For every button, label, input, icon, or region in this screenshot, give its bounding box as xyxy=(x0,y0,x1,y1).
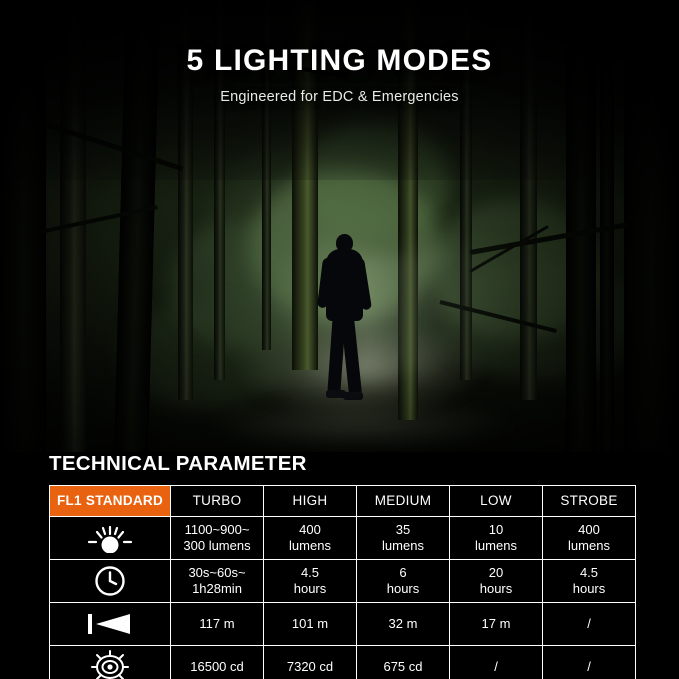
cell-intensity-low: / xyxy=(450,646,543,679)
cell-distance-high: 101 m xyxy=(264,603,357,646)
brightness-sun-icon xyxy=(50,517,171,560)
hero-headline: 5 LIGHTING MODES xyxy=(0,44,679,78)
hero-photo: 5 LIGHTING MODES Engineered for EDC & Em… xyxy=(0,0,679,452)
runtime-clock-icon xyxy=(50,560,171,603)
spec-table-wrapper: FL1 STANDARD TURBO HIGH MEDIUM LOW STROB… xyxy=(49,485,630,679)
cell-lumens-turbo: 1100~900~ 300 lumens xyxy=(171,517,264,560)
section-title: TECHNICAL PARAMETER xyxy=(49,452,307,476)
column-header-strobe: STROBE xyxy=(543,486,636,517)
cell-lumens-strobe: 400 lumens xyxy=(543,517,636,560)
cell-intensity-strobe: / xyxy=(543,646,636,679)
spec-table: FL1 STANDARD TURBO HIGH MEDIUM LOW STROB… xyxy=(49,485,636,679)
fl1-standard-header: FL1 STANDARD xyxy=(50,486,171,517)
table-header-row: FL1 STANDARD TURBO HIGH MEDIUM LOW STROB… xyxy=(50,486,636,517)
column-header-high: HIGH xyxy=(264,486,357,517)
table-row-distance: 117 m 101 m 32 m 17 m / xyxy=(50,603,636,646)
cell-distance-medium: 32 m xyxy=(357,603,450,646)
beam-distance-icon xyxy=(50,603,171,646)
cell-distance-turbo: 117 m xyxy=(171,603,264,646)
cell-distance-low: 17 m xyxy=(450,603,543,646)
cell-intensity-high: 7320 cd xyxy=(264,646,357,679)
table-row-intensity: 16500 cd 7320 cd 675 cd / / xyxy=(50,646,636,679)
table-row-lumens: 1100~900~ 300 lumens 400 lumens 35 lumen… xyxy=(50,517,636,560)
hero-subheadline: Engineered for EDC & Emergencies xyxy=(0,89,679,105)
cell-runtime-high: 4.5 hours xyxy=(264,560,357,603)
table-row-runtime: 30s~60s~ 1h28min 4.5 hours 6 hours 20 ho… xyxy=(50,560,636,603)
product-infographic: 5 LIGHTING MODES Engineered for EDC & Em… xyxy=(0,0,679,679)
column-header-medium: MEDIUM xyxy=(357,486,450,517)
cell-lumens-medium: 35 lumens xyxy=(357,517,450,560)
cell-runtime-medium: 6 hours xyxy=(357,560,450,603)
cell-runtime-strobe: 4.5 hours xyxy=(543,560,636,603)
column-header-low: LOW xyxy=(450,486,543,517)
cell-intensity-turbo: 16500 cd xyxy=(171,646,264,679)
cell-distance-strobe: / xyxy=(543,603,636,646)
column-header-turbo: TURBO xyxy=(171,486,264,517)
cell-lumens-low: 10 lumens xyxy=(450,517,543,560)
peak-beam-intensity-icon xyxy=(50,646,171,679)
cell-runtime-low: 20 hours xyxy=(450,560,543,603)
cell-lumens-high: 400 lumens xyxy=(264,517,357,560)
cell-intensity-medium: 675 cd xyxy=(357,646,450,679)
cell-runtime-turbo: 30s~60s~ 1h28min xyxy=(171,560,264,603)
